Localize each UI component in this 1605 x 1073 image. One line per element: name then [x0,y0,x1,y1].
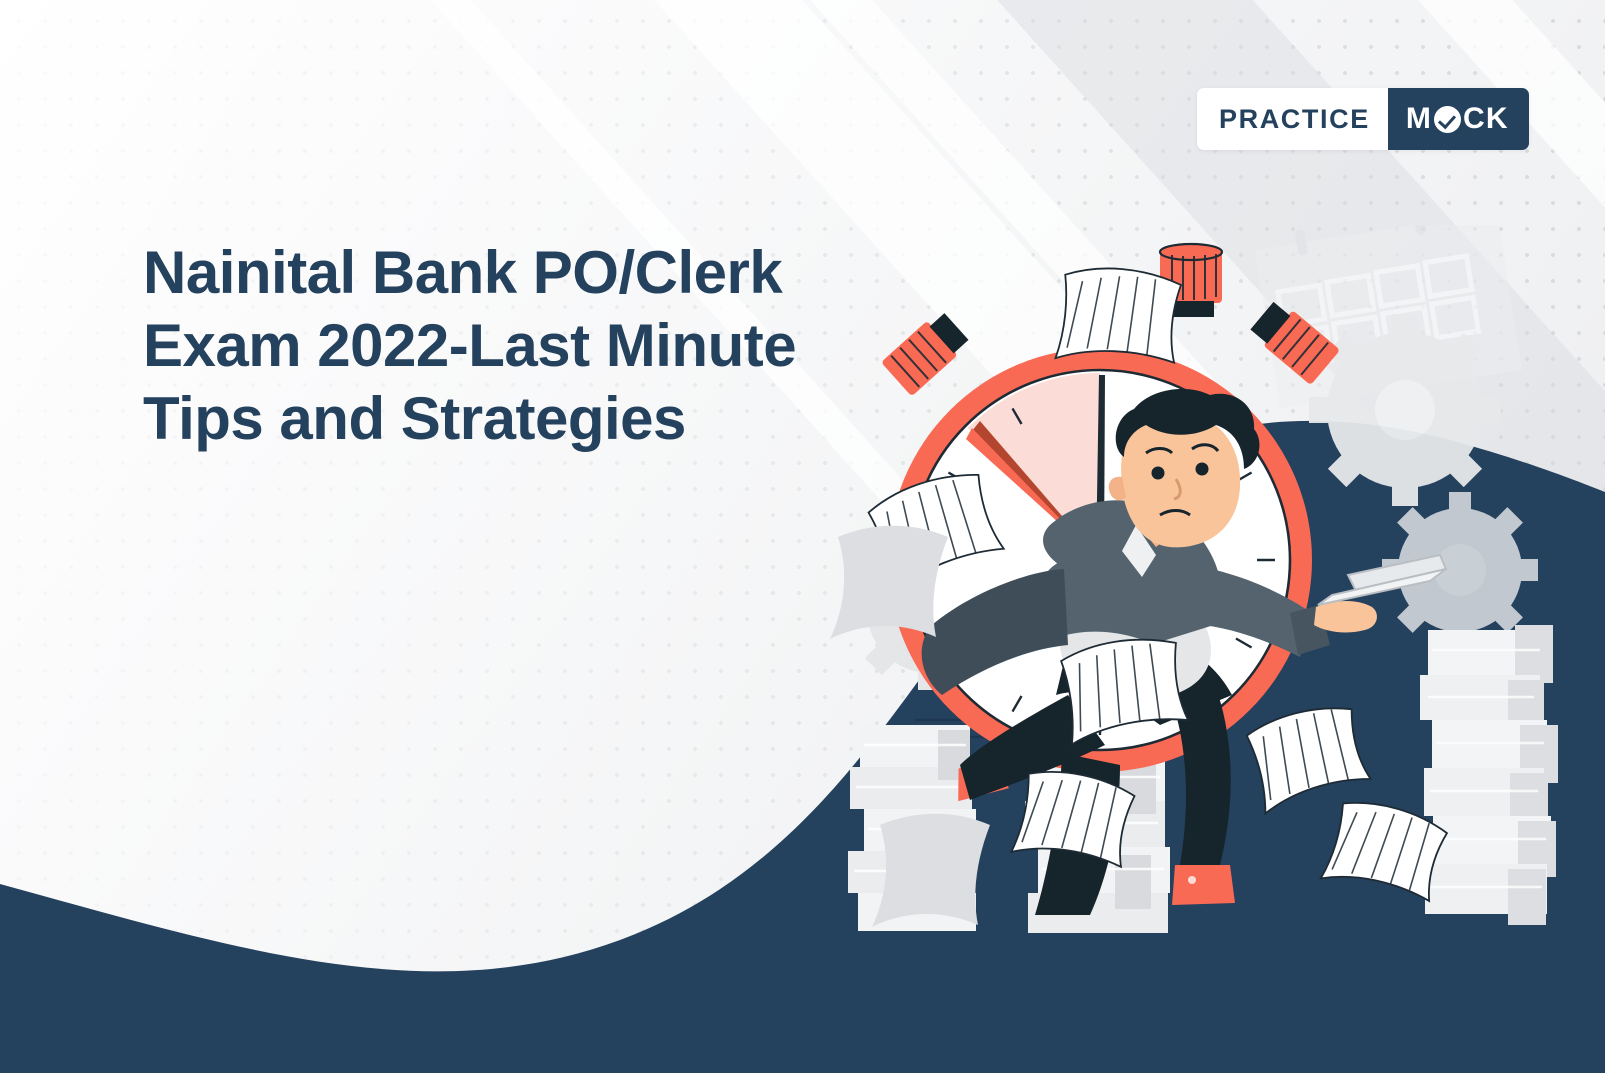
logo-practice-box: PRACTICE [1197,88,1388,150]
check-circle-icon [1434,106,1461,133]
logo-practice-text: PRACTICE [1219,104,1370,135]
logo-mock-text-after: CK [1463,102,1509,136]
flying-sheet-plain-bottom [872,814,990,927]
page-title-line-2: Exam 2022-Last Minute [143,309,923,382]
eye-left [1152,467,1165,480]
page-title-line-3: Tips and Strategies [143,382,923,455]
flying-sheet-plain-left [830,526,948,639]
page-title-line-1: Nainital Bank PO/Clerk [143,236,923,309]
brand-logo[interactable]: PRACTICE M CK [1197,88,1529,150]
page-title: Nainital Bank PO/Clerk Exam 2022-Last Mi… [143,236,923,456]
logo-mock-box: M CK [1388,88,1529,150]
paper-stack-right [1420,625,1558,925]
illustration-runner-stopwatch [820,225,1605,955]
eye-right [1196,463,1209,476]
logo-mock-text-before: M [1406,102,1432,136]
hand [1314,601,1377,632]
shoe-front [1172,865,1235,905]
banner-canvas: PRACTICE M CK Nainital Bank PO/Clerk Exa… [0,0,1605,1073]
